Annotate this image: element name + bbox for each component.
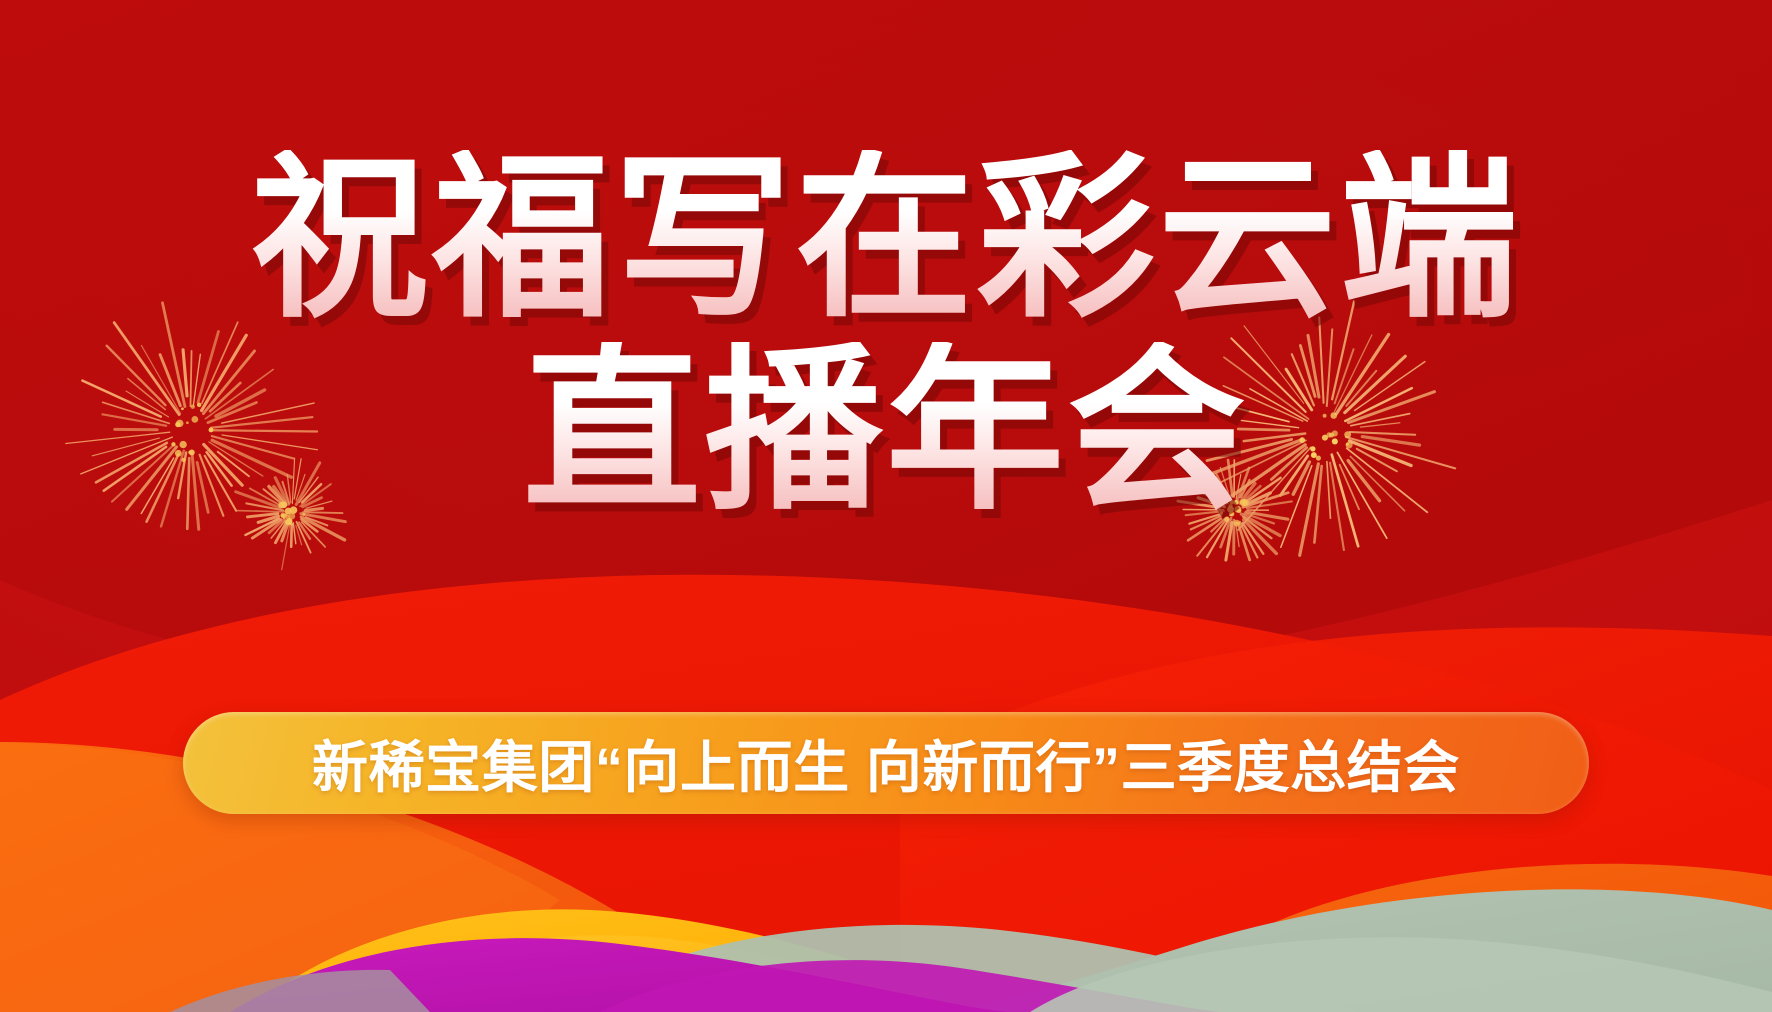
event-poster: 祝福写在彩云端 直播年会 新稀宝集团“向上而生 向新而行”三季度总结会 bbox=[0, 0, 1772, 1012]
subtitle-pill: 新稀宝集团“向上而生 向新而行”三季度总结会 bbox=[183, 712, 1589, 814]
title-line-1: 祝福写在彩云端 bbox=[0, 150, 1772, 328]
subtitle-text: 新稀宝集团“向上而生 向新而行”三季度总结会 bbox=[312, 723, 1460, 804]
poster-title: 祝福写在彩云端 直播年会 bbox=[0, 150, 1772, 520]
title-line-2: 直播年会 bbox=[0, 342, 1772, 520]
